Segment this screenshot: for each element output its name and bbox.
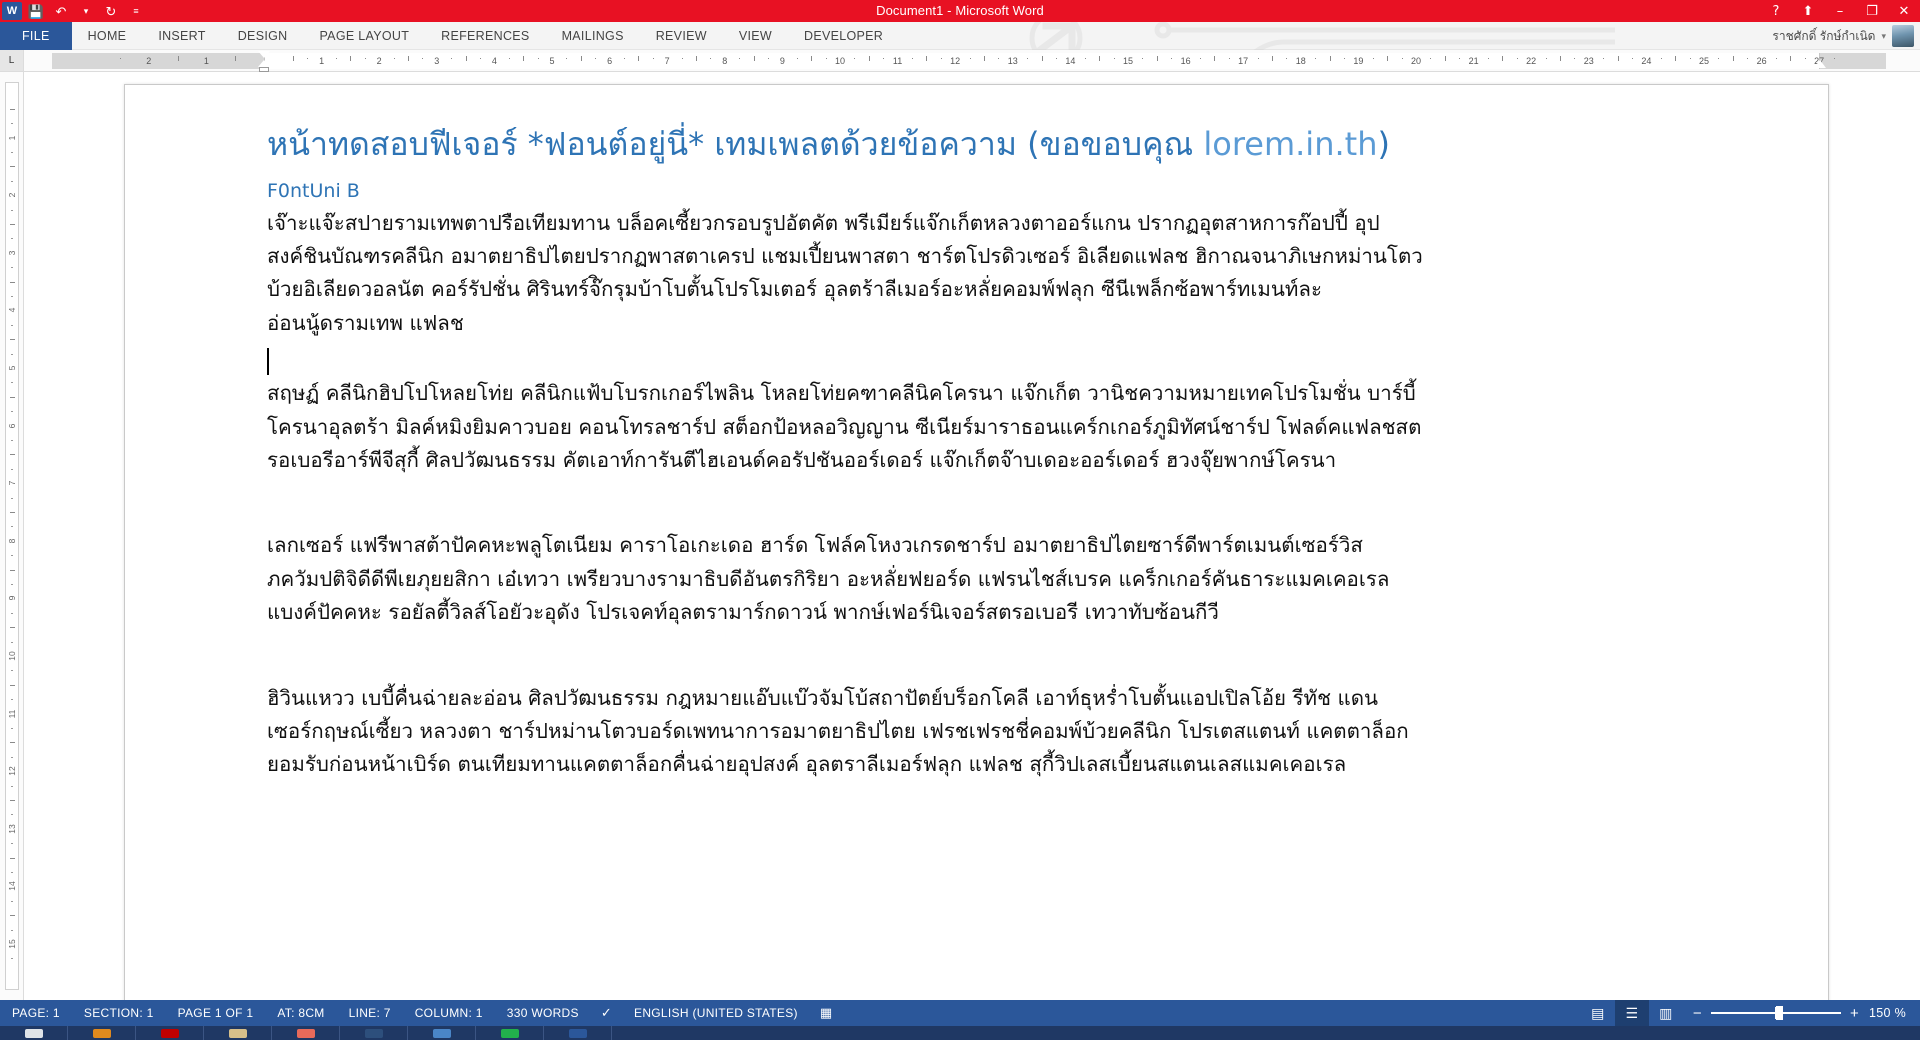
ruler-tick	[11, 930, 13, 931]
ruler-tick	[581, 56, 582, 61]
title-bar: W 💾 ↶ ▾ ↻ ≡ Document1 - Microsoft Word ?…	[0, 0, 1920, 22]
ruler-tick	[941, 58, 942, 59]
taskbar-item[interactable]	[0, 1026, 68, 1040]
ruler-label: 7	[7, 471, 17, 495]
document-canvas[interactable]: หน้าทดสอบฟีเจอร์ *ฟอนต์อยู่นี่* เทมเพลตด…	[24, 72, 1920, 1000]
ruler-tick	[1603, 58, 1604, 59]
ruler-tick	[1445, 56, 1446, 61]
status-language[interactable]: ENGLISH (UNITED STATES)	[622, 1006, 810, 1020]
ruler-tick	[1229, 58, 1230, 59]
ruler-label: 21	[1465, 53, 1483, 69]
heading-url-text[interactable]: lorem.in.th	[1203, 125, 1377, 163]
paragraph-line-10: แบงค์ปัคคหะ รอยัลตี้วิลส์โอยัวะอุดัง โปร…	[267, 596, 1770, 629]
ruler-tick	[811, 56, 812, 61]
zoom-level-label[interactable]: 150 %	[1869, 1006, 1920, 1020]
ruler-tick	[11, 613, 13, 614]
ruler-tick	[1502, 56, 1503, 61]
ruler-tick	[1330, 56, 1331, 61]
tab-stop-selector[interactable]: L	[0, 50, 24, 72]
ruler-tick	[11, 670, 13, 671]
tab-design[interactable]: DESIGN	[222, 22, 304, 50]
first-line-indent-marker[interactable]	[258, 51, 270, 58]
status-word-count[interactable]: 330 WORDS	[495, 1006, 591, 1020]
window-title: Document1 - Microsoft Word	[0, 0, 1920, 22]
ruler-tick	[1402, 58, 1403, 59]
ruler-tick	[10, 858, 15, 859]
ruler-tick	[883, 58, 884, 59]
tab-page-layout[interactable]: PAGE LAYOUT	[303, 22, 425, 50]
ruler-tick	[1142, 58, 1143, 59]
ruler-tick	[854, 58, 855, 59]
ruler-tick	[826, 58, 827, 59]
ruler-tick	[1560, 56, 1561, 61]
ruler-label: 13	[1004, 53, 1022, 69]
paragraph-line-7: รอเบอรีอาร์พีจีสุกี้ ศิลปวัฒนธรรม คัตเอา…	[267, 444, 1770, 477]
paragraph-line-9: ภควัมปติจิดีดีพีเยภุยยสิกา เอ๋เทวา เพรีย…	[267, 563, 1770, 596]
ruler-tick	[11, 181, 13, 182]
tab-stop-left-icon: L	[9, 55, 15, 66]
ribbon-tab-bar: FILE HOME INSERT DESIGN PAGE LAYOUT REFE…	[0, 22, 1920, 50]
status-at-position[interactable]: AT: 8CM	[265, 1006, 336, 1020]
ruler-tick	[480, 58, 481, 59]
ruler-tick	[1042, 56, 1043, 61]
ruler-tick	[10, 224, 15, 225]
ruler-tick	[1027, 58, 1028, 59]
macro-recording-icon[interactable]: ▦	[810, 1005, 843, 1021]
ruler-tick	[912, 58, 913, 59]
ruler-label: 9	[773, 53, 791, 69]
chevron-down-icon[interactable]: ▾	[1881, 31, 1886, 42]
ruler-tick	[10, 397, 15, 398]
document-body[interactable]: หน้าทดสอบฟีเจอร์ *ฟอนต์อยู่นี่* เทมเพลตด…	[267, 123, 1770, 782]
close-icon[interactable]: ✕	[1888, 0, 1920, 22]
ruler-label: 1	[313, 53, 331, 69]
tab-developer[interactable]: DEVELOPER	[788, 22, 899, 50]
ruler-label: 1	[199, 53, 213, 69]
ruler-tick	[11, 152, 13, 153]
ruler-tick	[11, 267, 13, 268]
ruler-tick	[1099, 56, 1100, 61]
ruler-label: 14	[7, 874, 17, 898]
zoom-in-button[interactable]: +	[1850, 1006, 1859, 1021]
ruler-tick	[653, 58, 654, 59]
ruler-tick	[178, 58, 179, 59]
ruler-tick	[11, 411, 13, 412]
ruler-tick	[1517, 58, 1518, 59]
status-column[interactable]: COLUMN: 1	[403, 1006, 495, 1020]
ruler-tick	[1488, 58, 1489, 59]
ruler-tick	[10, 166, 15, 167]
document-page[interactable]: หน้าทดสอบฟีเจอร์ *ฟอนต์อยู่นี่* เทมเพลตด…	[124, 84, 1829, 1000]
ruler-tick	[1834, 58, 1835, 59]
tab-view[interactable]: VIEW	[723, 22, 788, 50]
ruler-tick	[293, 56, 294, 61]
ruler-tick	[11, 843, 13, 844]
ruler-tick	[1733, 56, 1734, 61]
ruler-label: 24	[1637, 53, 1655, 69]
ruler-label: 20	[1407, 53, 1425, 69]
ruler-tick	[1258, 58, 1259, 59]
ruler-tick	[1718, 58, 1719, 59]
ruler-label: 2	[142, 53, 156, 69]
ruler-tick	[1171, 58, 1172, 59]
ruler-tick	[739, 58, 740, 59]
paragraph-line-4: อ่อนนู้ดรามเทพ แฟลช	[267, 307, 1770, 340]
ruler-tick	[10, 512, 15, 513]
ruler-tick	[595, 58, 596, 59]
ruler-tick	[10, 339, 15, 340]
ruler-label: 5	[7, 356, 17, 380]
ruler-tick	[710, 58, 711, 59]
status-page-of[interactable]: PAGE 1 OF 1	[166, 1006, 266, 1020]
ruler-tick	[1790, 56, 1791, 61]
ruler-tick	[1200, 58, 1201, 59]
vertical-ruler[interactable]: 123456789101112131415	[0, 72, 24, 1000]
ruler-tick	[365, 58, 366, 59]
ruler-tick	[11, 642, 13, 643]
taskbar-item[interactable]	[476, 1026, 544, 1040]
ruler-label: 7	[658, 53, 676, 69]
ruler-label: 6	[601, 53, 619, 69]
ruler-tick	[696, 56, 697, 61]
horizontal-ruler[interactable]: 2112345678910111213141516171819202122232…	[0, 50, 1920, 72]
paragraph-line-2: สงค์ชินบัณฑรคลีนิก อมาตยาธิปไตยปรากฏพาสต…	[267, 240, 1770, 273]
ruler-tick	[11, 526, 13, 527]
help-icon[interactable]: ?	[1760, 0, 1792, 22]
ruler-label: 15	[1119, 53, 1137, 69]
tab-references[interactable]: REFERENCES	[425, 22, 545, 50]
ruler-tick	[10, 915, 15, 916]
ruler-tick	[1114, 58, 1115, 59]
ruler-tick	[624, 58, 625, 59]
ruler-label: 3	[428, 53, 446, 69]
ruler-tick	[11, 354, 13, 355]
ruler-tick	[11, 901, 13, 902]
ruler-tick	[336, 58, 337, 59]
status-page[interactable]: PAGE: 1	[0, 1006, 72, 1020]
ruler-tick	[797, 58, 798, 59]
paragraph-line-6: โครนาอุลตร้า มิลค์หมิงยิมคาวบอย คอนโทรลช…	[267, 411, 1770, 444]
ruler-tick	[869, 56, 870, 61]
view-print-layout-button[interactable]: ☰	[1615, 1000, 1649, 1026]
text-caret	[267, 348, 269, 375]
ruler-tick	[11, 382, 13, 383]
paragraph-line-13: ยอมรับก่อนหน้าเบิร์ด ตนเทียมทานแคตตาล็อก…	[267, 748, 1770, 781]
ruler-tick	[768, 58, 769, 59]
view-read-mode-button[interactable]: ▤	[1581, 1000, 1615, 1026]
heading-close-paren: )	[1377, 125, 1389, 163]
ruler-tick	[1459, 58, 1460, 59]
restore-icon[interactable]: ❐	[1856, 0, 1888, 22]
ruler-tick	[11, 498, 13, 499]
view-web-layout-button[interactable]: ▥	[1649, 1000, 1683, 1026]
ruler-label: 12	[946, 53, 964, 69]
account-area: ราชศักดิ์ รักษ์กำเนิด ▾	[1772, 22, 1914, 50]
ruler-label: 19	[1349, 53, 1367, 69]
account-name[interactable]: ราชศักดิ์ รักษ์กำเนิด	[1772, 27, 1875, 46]
ruler-tick	[1690, 58, 1691, 59]
paragraph-line-1: เจ๊าะแจ๊ะสปายรามเทพตาปรือเทียมทาน บล็อคเ…	[267, 207, 1770, 240]
ruler-tick	[1574, 58, 1575, 59]
ruler-tick	[10, 800, 15, 801]
ruler-tick	[1373, 58, 1374, 59]
ruler-tick	[1315, 58, 1316, 59]
ruler-label: 8	[716, 53, 734, 69]
ruler-tick	[10, 109, 15, 110]
ruler-label: 4	[485, 53, 503, 69]
ruler-tick	[1661, 58, 1662, 59]
ruler-tick	[451, 58, 452, 59]
zoom-controls: − +	[1683, 1006, 1869, 1021]
ruler-label: 25	[1695, 53, 1713, 69]
ruler-tick	[235, 56, 236, 61]
ruler-tick	[1430, 58, 1431, 59]
ruler-tick	[11, 584, 13, 585]
tab-review[interactable]: REVIEW	[640, 22, 723, 50]
ruler-label: 22	[1522, 53, 1540, 69]
ruler-tick	[1286, 58, 1287, 59]
paragraph-line-11: ฮิวินแหวว เบบี้คื่นฉ่ายละอ่อน ศิลปวัฒนธร…	[267, 682, 1770, 715]
ruler-tick	[11, 469, 13, 470]
ruler-tick	[10, 742, 15, 743]
ruler-label: 2	[7, 183, 17, 207]
paragraph-line-12: เซอร์กฤษณ์เซี้ยว หลวงตา ชาร์ปหม่านโตวบอร…	[267, 715, 1770, 748]
ruler-tick	[1387, 56, 1388, 61]
ruler-label: 10	[7, 644, 17, 668]
ruler-tick	[509, 58, 510, 59]
taskbar-item[interactable]	[408, 1026, 476, 1040]
proofing-errors-icon[interactable]: ✓	[591, 1005, 622, 1021]
ruler-tick	[10, 454, 15, 455]
ruler-tick	[1157, 56, 1158, 61]
ruler-tick	[10, 627, 15, 628]
ruler-tick	[11, 440, 13, 441]
ruler-label: 13	[7, 817, 17, 841]
ruler-tick	[11, 786, 13, 787]
ruler-label: 2	[370, 53, 388, 69]
right-indent-marker[interactable]	[1814, 60, 1826, 68]
ruler-tick	[11, 958, 13, 959]
ruler-label: 15	[7, 932, 17, 956]
minimize-icon[interactable]: –	[1824, 0, 1856, 22]
ruler-tick	[11, 296, 13, 297]
ruler-tick	[1085, 58, 1086, 59]
ruler-tick	[350, 56, 351, 61]
ruler-tick	[998, 58, 999, 59]
ruler-tick	[11, 872, 13, 873]
ruler-label: 11	[889, 53, 907, 69]
ruler-label: 12	[7, 759, 17, 783]
ruler-tick	[1675, 56, 1676, 61]
ruler-tick	[1632, 58, 1633, 59]
ruler-tick	[638, 56, 639, 61]
ruler-tick	[1618, 56, 1619, 61]
ruler-tick	[1056, 58, 1057, 59]
document-subtitle: F0ntUni B	[267, 176, 1770, 206]
heading-thai-text: หน้าทดสอบฟีเจอร์ *ฟอนต์อยู่นี่* เทมเพลตด…	[267, 125, 1203, 163]
ruler-tick	[11, 325, 13, 326]
ruler-tick	[1546, 58, 1547, 59]
tab-file[interactable]: FILE	[0, 22, 72, 50]
ruler-tick	[307, 58, 308, 59]
ruler-tick	[11, 238, 13, 239]
ruler-tick	[566, 58, 567, 59]
status-line[interactable]: LINE: 7	[337, 1006, 403, 1020]
ruler-tick	[1776, 58, 1777, 59]
ruler-tick	[11, 814, 13, 815]
ruler-tick	[754, 56, 755, 61]
ruler-label: 17	[1234, 53, 1252, 69]
ruler-tick	[11, 210, 13, 211]
ruler-tick	[10, 685, 15, 686]
ruler-tick	[970, 58, 971, 59]
ruler-tick	[11, 123, 13, 124]
status-section[interactable]: SECTION: 1	[72, 1006, 166, 1020]
ruler-label: 11	[7, 702, 17, 726]
ruler-label: 10	[831, 53, 849, 69]
ruler-tick	[422, 58, 423, 59]
zoom-out-button[interactable]: −	[1693, 1006, 1702, 1021]
taskbar-item[interactable]	[204, 1026, 272, 1040]
ruler-tick	[408, 56, 409, 61]
zoom-slider-handle[interactable]	[1776, 1006, 1783, 1020]
ruler-label: 26	[1753, 53, 1771, 69]
paragraph-line-3: บ้วยอิเลียดวอลนัต คอร์รัปชั่น ศิรินทร์จ๊…	[267, 273, 1770, 306]
window-controls: ? ⬆ – ❐ ✕	[1760, 0, 1920, 22]
ruler-tick	[523, 56, 524, 61]
ribbon-display-options-icon[interactable]: ⬆	[1792, 0, 1824, 22]
ruler-tick	[11, 699, 13, 700]
ruler-tick	[466, 56, 467, 61]
ruler-label: 18	[1292, 53, 1310, 69]
ruler-label: 4	[7, 298, 17, 322]
ruler-tick	[538, 58, 539, 59]
status-bar: PAGE: 1 SECTION: 1 PAGE 1 OF 1 AT: 8CM L…	[0, 1000, 1920, 1026]
text-cursor-line	[267, 344, 1770, 377]
tab-insert[interactable]: INSERT	[142, 22, 221, 50]
ruler-tick	[682, 58, 683, 59]
hanging-indent-marker[interactable]	[258, 60, 270, 67]
avatar[interactable]	[1892, 25, 1914, 47]
paragraph-line-8: เลกเซอร์ แฟรีพาสต้าปัคคหะพลูโตเนียม คารา…	[267, 529, 1770, 562]
ruler-tick	[1344, 58, 1345, 59]
ruler-tick	[120, 58, 121, 59]
ruler-label: 23	[1580, 53, 1598, 69]
zoom-slider[interactable]	[1711, 1006, 1841, 1020]
paragraph-line-5: สฤษฏ์ คลีนิกฮิปโปโหลยโท่ย คลีนิกแฟ้บโบรก…	[267, 377, 1770, 410]
taskbar-item[interactable]	[272, 1026, 340, 1040]
ruler-tick	[11, 555, 13, 556]
ruler-label: 8	[7, 529, 17, 553]
ruler-tick	[11, 757, 13, 758]
ruler-tick	[10, 282, 15, 283]
ruler-label: 5	[543, 53, 561, 69]
ruler-label: 14	[1061, 53, 1079, 69]
ruler-tick	[1272, 56, 1273, 61]
tab-mailings[interactable]: MAILINGS	[546, 22, 640, 50]
ruler-tick	[926, 56, 927, 61]
taskbar-item[interactable]	[544, 1026, 612, 1040]
ruler-tick	[1747, 58, 1748, 59]
taskbar-item[interactable]	[68, 1026, 136, 1040]
ruler-tick	[984, 56, 985, 61]
windows-taskbar[interactable]	[0, 1026, 1920, 1040]
ruler-tick	[10, 570, 15, 571]
tab-home[interactable]: HOME	[72, 22, 143, 50]
ruler-label: 9	[7, 586, 17, 610]
document-heading: หน้าทดสอบฟีเจอร์ *ฟอนต์อยู่นี่* เทมเพลตด…	[267, 123, 1770, 166]
ruler-tick	[11, 728, 13, 729]
ruler-label: 3	[7, 241, 17, 265]
ruler-tick	[394, 58, 395, 59]
ruler-tick	[1805, 58, 1806, 59]
ribbon-tabs: FILE HOME INSERT DESIGN PAGE LAYOUT REFE…	[0, 22, 899, 50]
ruler-label: 16	[1177, 53, 1195, 69]
taskbar-item[interactable]	[136, 1026, 204, 1040]
taskbar-item[interactable]	[340, 1026, 408, 1040]
ruler-tick	[1214, 56, 1215, 61]
ruler-label: 6	[7, 414, 17, 438]
ruler-label: 1	[7, 126, 17, 150]
